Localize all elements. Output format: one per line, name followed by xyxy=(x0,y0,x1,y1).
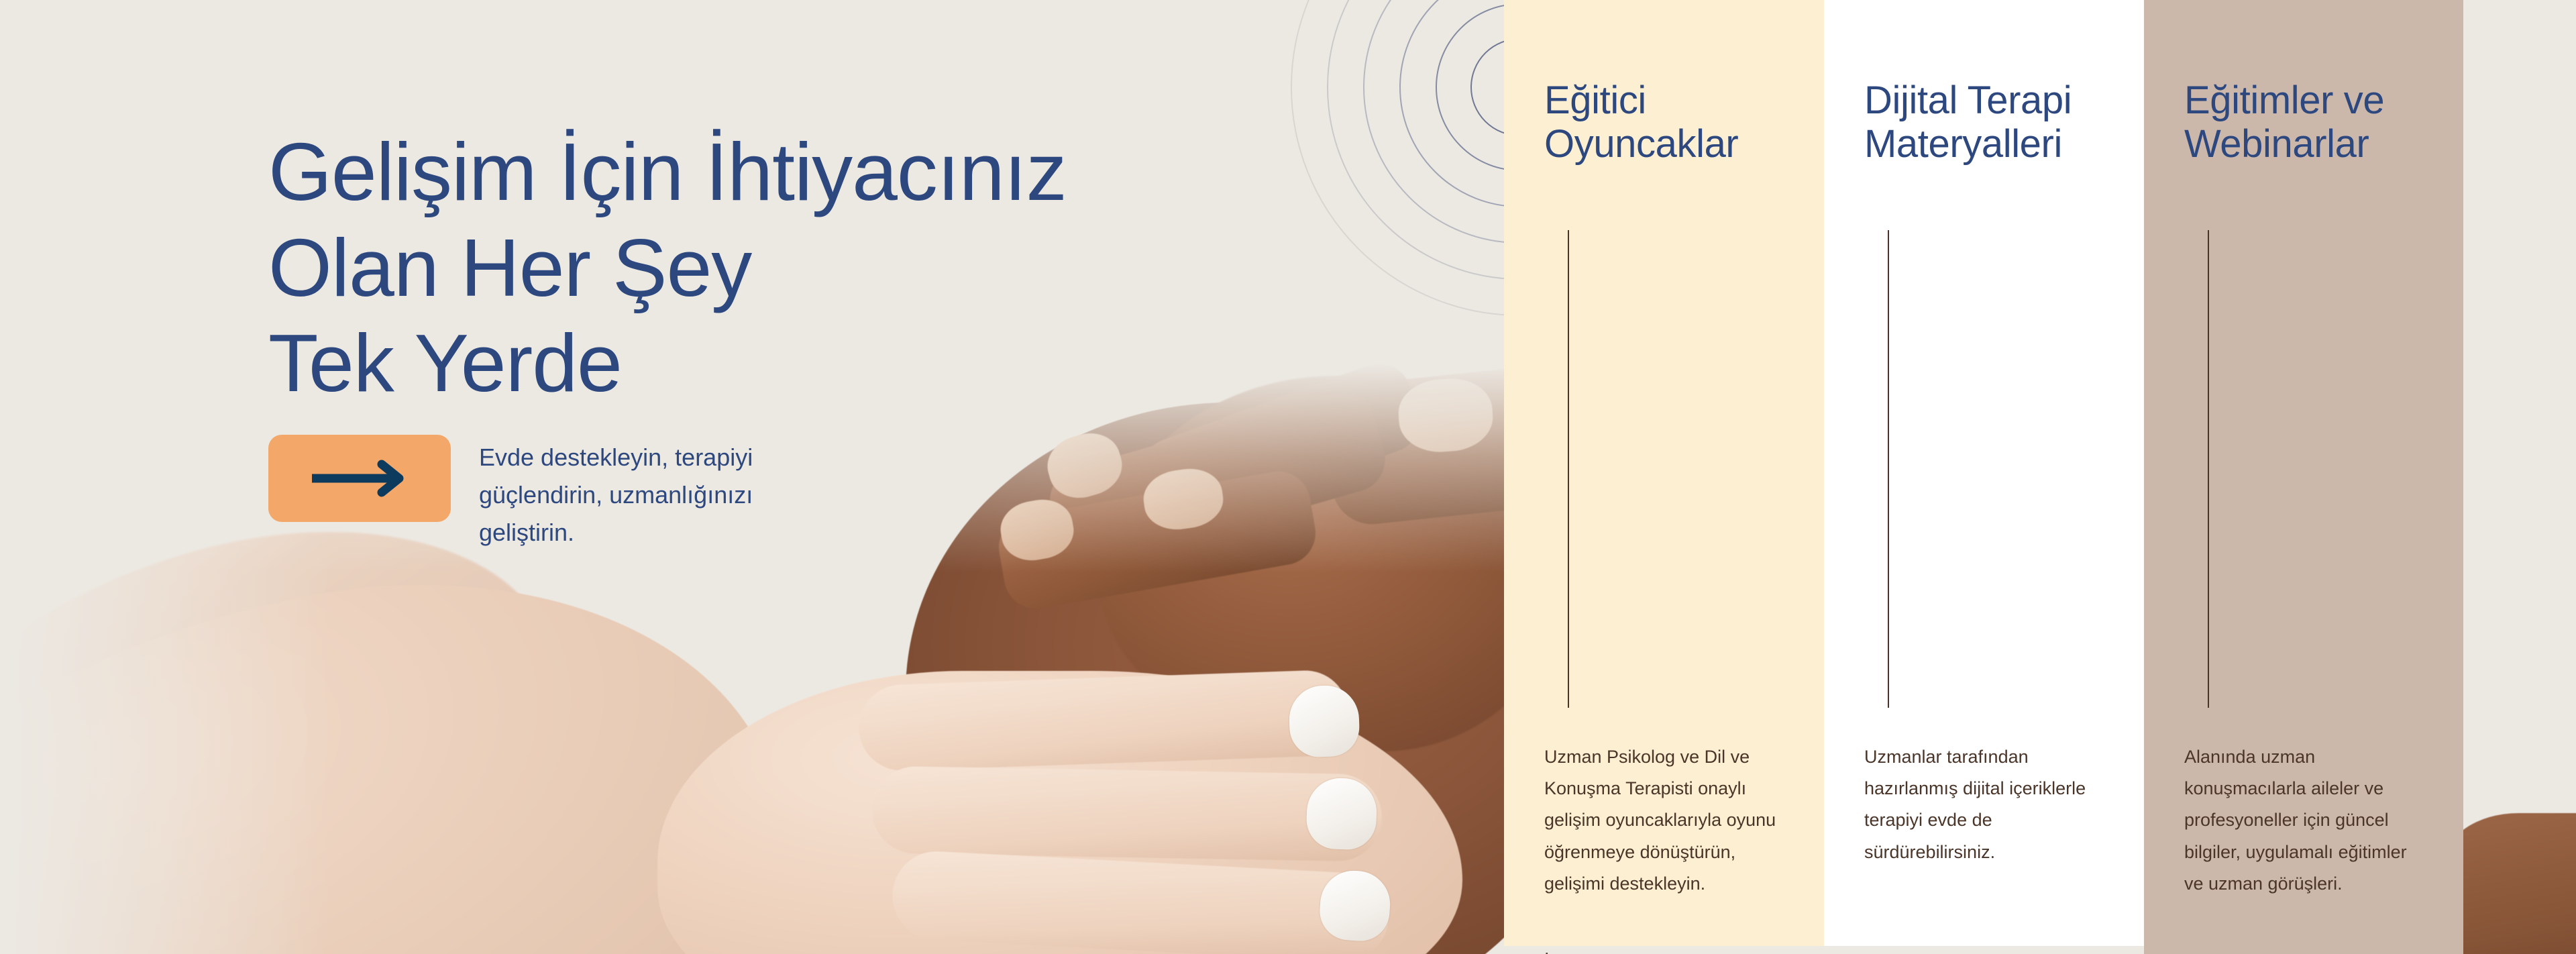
light-finger-1 xyxy=(857,669,1350,772)
feature-card-dijital-terapi-materyalleri[interactable]: Dijital Terapi Materyalleri Uzmanlar tar… xyxy=(1824,0,2144,946)
card-vertical-rule xyxy=(1568,230,1569,708)
feature-cards: Eğitici Oyuncaklar Uzman Psikolog ve Dil… xyxy=(1504,0,2463,954)
card-trailing-text: . xyxy=(1544,933,1784,954)
card-vertical-rule xyxy=(1888,230,1889,708)
card-body-text: Alanında uzman konuşmacılarla aileler ve… xyxy=(2184,741,2423,900)
page-title: Gelişim İçin İhtiyacınız Olan Her Şey Te… xyxy=(268,124,1107,411)
card-title: Eğitici Oyuncaklar xyxy=(1544,79,1784,166)
feature-card-egitimler-ve-webinarlar[interactable]: Eğitimler ve Webinarlar Alanında uzman k… xyxy=(2144,0,2463,954)
card-title: Eğitimler ve Webinarlar xyxy=(2184,79,2423,166)
card-body-text: Uzmanlar tarafından hazırlanmış dijital … xyxy=(1864,741,2104,868)
hero-subtitle: Evde destekleyin, terapiyi güçlendirin, … xyxy=(479,435,828,551)
landing-hero-section: Gelişim İçin İhtiyacınız Olan Her Şey Te… xyxy=(0,0,2576,954)
light-nail-1 xyxy=(1288,684,1360,758)
card-vertical-rule xyxy=(2208,230,2209,708)
light-nail-2 xyxy=(1305,777,1378,851)
feature-card-egitici-oyuncaklar[interactable]: Eğitici Oyuncaklar Uzman Psikolog ve Dil… xyxy=(1504,0,1824,946)
card-title: Dijital Terapi Materyalleri xyxy=(1864,79,2104,166)
arrow-right-icon xyxy=(309,458,410,499)
hero-cta-button[interactable] xyxy=(268,435,451,522)
hero-text-block: Gelişim İçin İhtiyacınız Olan Her Şey Te… xyxy=(268,124,1107,411)
light-finger-2 xyxy=(871,765,1383,861)
right-edge-hand-fragment xyxy=(2463,813,2576,954)
card-body-text: Uzman Psikolog ve Dil ve Konuşma Terapis… xyxy=(1544,741,1784,900)
right-edge-strip xyxy=(2463,0,2576,954)
hero-cta-row: Evde destekleyin, terapiyi güçlendirin, … xyxy=(268,435,828,551)
